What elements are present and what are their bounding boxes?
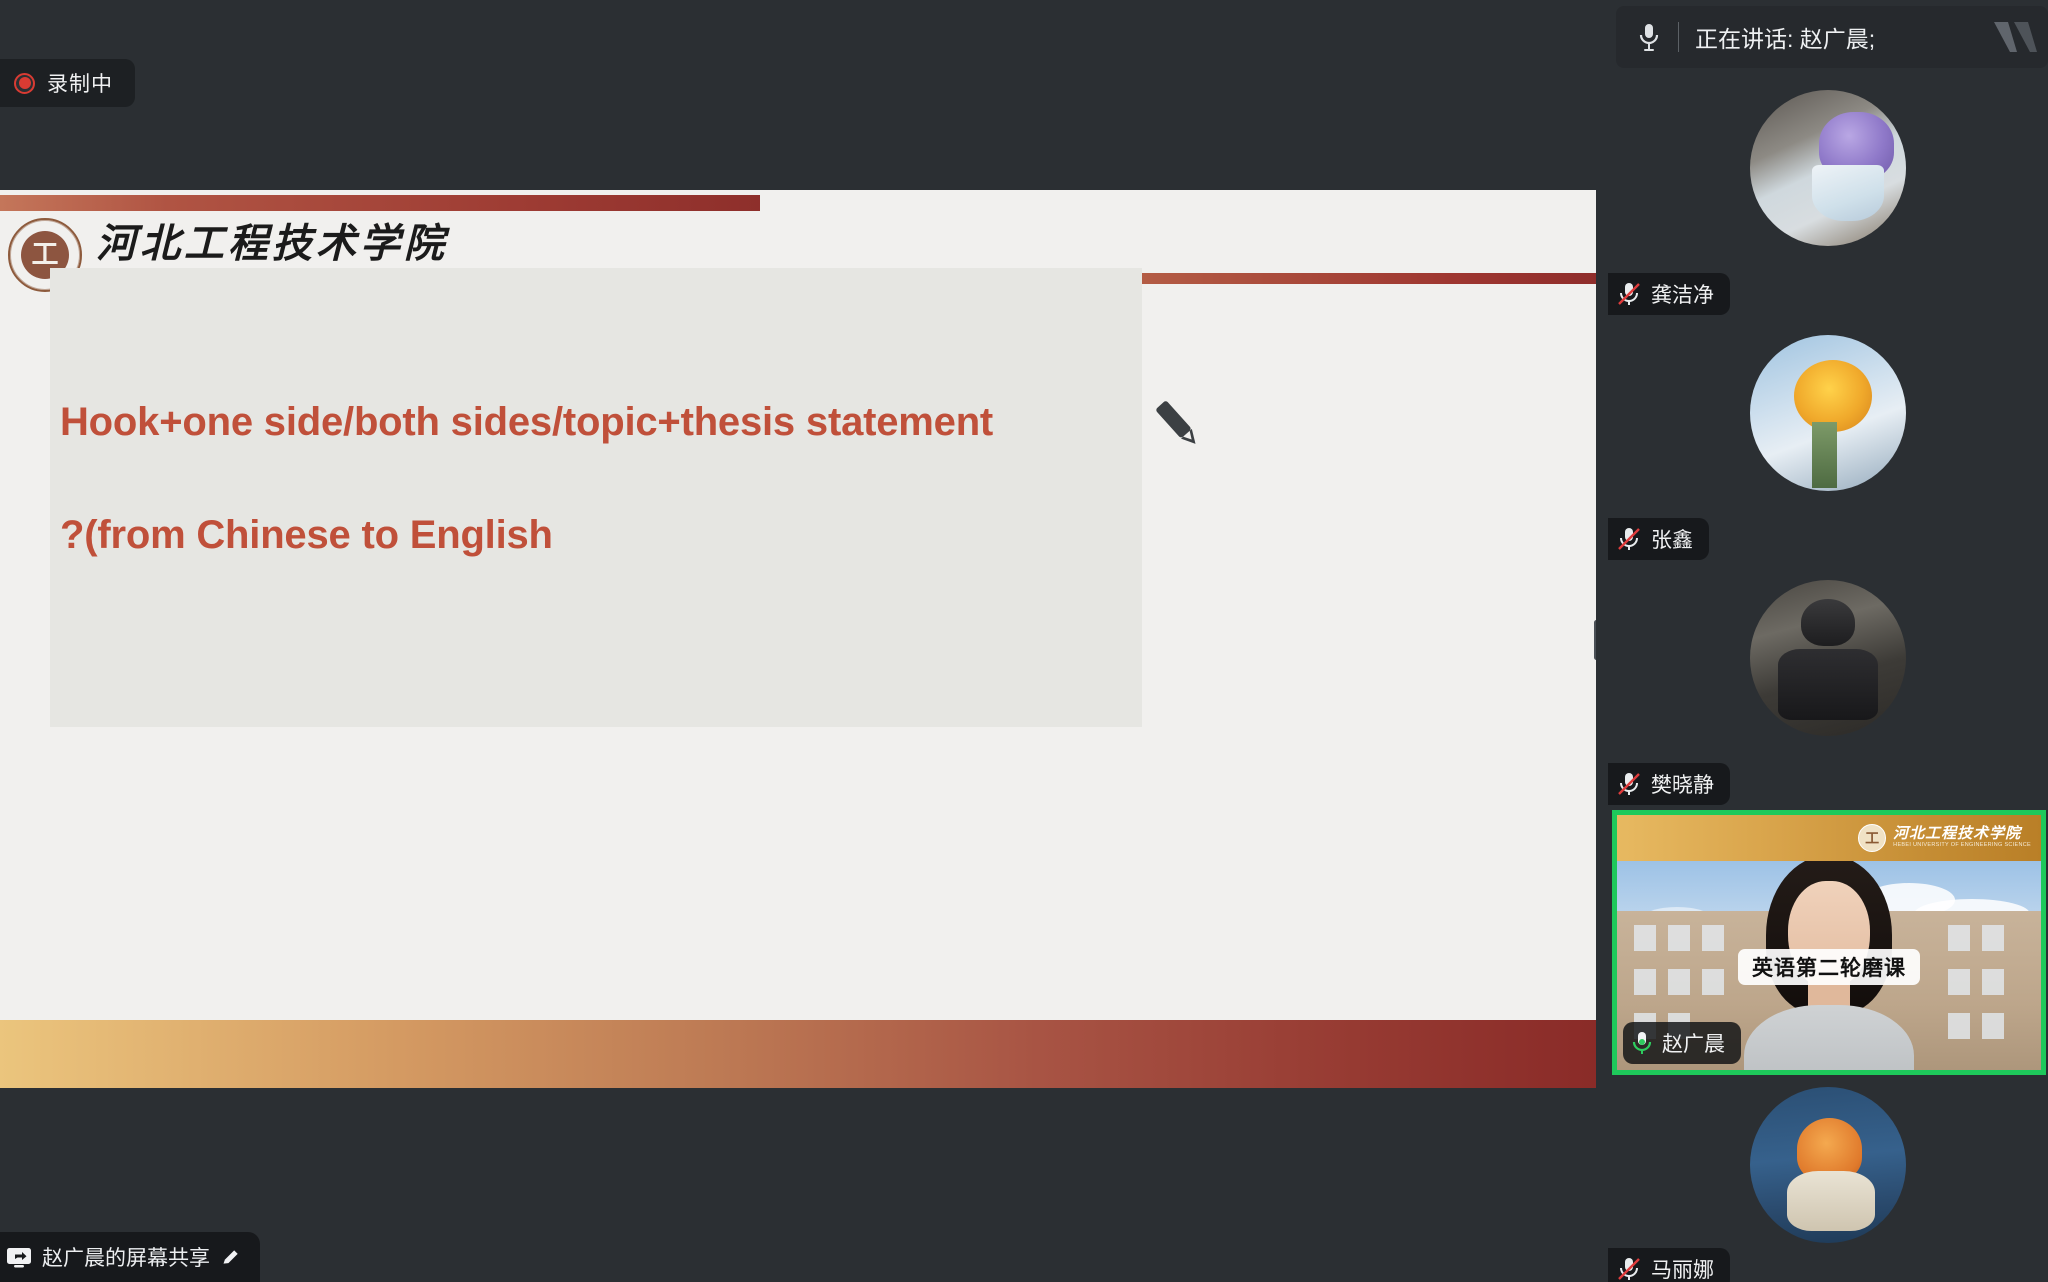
participant-name: 樊晓静 [1651, 769, 1714, 799]
shared-screen-area: 录制中 工 河北工程技术学院 HEBEI UNIVERSITY OF ENGIN… [0, 0, 1596, 1282]
avatar [1750, 1087, 1906, 1243]
participant-name-badge: 龚洁净 [1608, 273, 1730, 315]
meeting-screen-share-window: 录制中 工 河北工程技术学院 HEBEI UNIVERSITY OF ENGIN… [0, 0, 2048, 1282]
slide-text-line-2: ?(from Chinese to English [60, 513, 553, 558]
avatar [1750, 580, 1906, 736]
avatar [1750, 90, 1906, 246]
participant-tile[interactable]: 樊晓静 [1608, 564, 2048, 809]
voov-logo-icon [1988, 12, 2046, 60]
participants-rail: 正在讲话: 赵广晨; 龚洁净 [1608, 0, 2048, 1282]
seal-character: 工 [32, 242, 59, 269]
presentation-slide: 工 河北工程技术学院 HEBEI UNIVERSITY OF ENGINEERI… [0, 190, 1596, 1088]
microphone-muted-icon [1616, 526, 1642, 552]
virtual-background-banner: 工 河北工程技术学院 HEBEI UNIVERSITY OF ENGINEERI… [1617, 815, 2041, 861]
active-speaker-tile[interactable]: 工 河北工程技术学院 HEBEI UNIVERSITY OF ENGINEERI… [1612, 810, 2046, 1075]
panel-resize-handle[interactable] [1594, 620, 1596, 660]
banner-divider [1678, 22, 1679, 52]
virtual-background-title: 英语第二轮磨课 [1738, 949, 1920, 985]
active-speaker-name-badge: 赵广晨 [1623, 1022, 1741, 1064]
microphone-muted-icon [1616, 1256, 1642, 1282]
microphone-icon [1636, 22, 1662, 52]
screen-share-status-bar[interactable]: 赵广晨的屏幕共享 [0, 1232, 260, 1282]
avatar [1750, 335, 1906, 491]
participant-name-badge: 张鑫 [1608, 518, 1709, 560]
slide-content-box: Hook+one side/both sides/topic+thesis st… [50, 268, 1142, 727]
vb-university-name-en: HEBEI UNIVERSITY OF ENGINEERING SCIENCE [1893, 843, 2031, 849]
university-seal-icon: 工 [1858, 824, 1886, 852]
participant-name-badge: 马丽娜 [1608, 1248, 1730, 1282]
seal-character: 工 [1865, 828, 1879, 848]
participant-tile[interactable]: 龚洁净 [1608, 74, 2048, 319]
microphone-active-icon [1631, 1030, 1653, 1056]
header-accent-bar-top [0, 195, 760, 211]
participant-tile[interactable]: 张鑫 [1608, 319, 2048, 564]
active-speaker-banner: 正在讲话: 赵广晨; [1616, 6, 2048, 68]
participant-name: 张鑫 [1651, 524, 1693, 554]
pencil-icon[interactable] [220, 1247, 241, 1268]
participant-name-badge: 樊晓静 [1608, 763, 1730, 805]
share-owner-label: 赵广晨的屏幕共享 [42, 1242, 210, 1272]
microphone-muted-icon [1616, 281, 1642, 307]
participant-name: 赵广晨 [1662, 1028, 1725, 1058]
university-name-cn: 河北工程技术学院 [96, 222, 464, 266]
screen-share-icon [6, 1247, 32, 1268]
record-dot-icon [14, 73, 35, 94]
participant-name: 马丽娜 [1651, 1254, 1714, 1282]
microphone-muted-icon [1616, 771, 1642, 797]
speaking-now-label: 正在讲话: 赵广晨; [1695, 20, 1875, 54]
participant-name: 龚洁净 [1651, 279, 1714, 309]
slide-text-line-1: Hook+one side/both sides/topic+thesis st… [60, 400, 993, 445]
vb-university-name-cn: 河北工程技术学院 [1893, 827, 2031, 843]
recording-label: 录制中 [47, 68, 113, 98]
slide-footer-gradient [0, 1020, 1596, 1088]
recording-indicator: 录制中 [0, 59, 135, 107]
pencil-icon[interactable] [1146, 393, 1208, 455]
participant-tile[interactable]: 马丽娜 [1608, 1075, 2048, 1282]
